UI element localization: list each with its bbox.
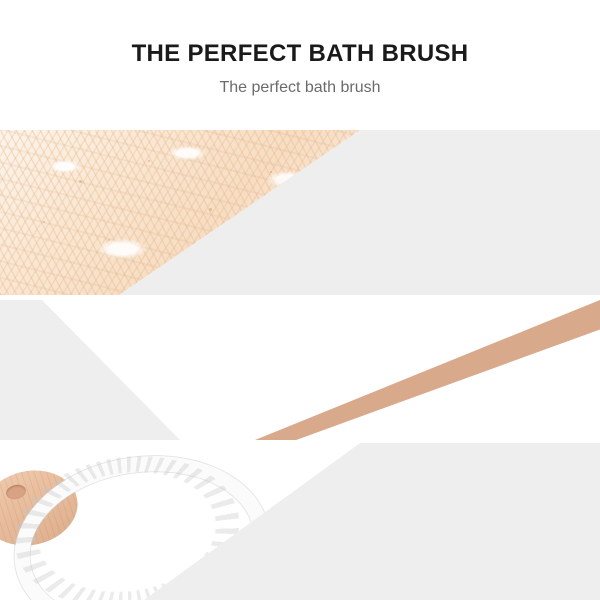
header: THE PERFECT BATH BRUSH The perfect bath … — [0, 0, 600, 130]
feature-section-3: 3 BRACELET DESIGN — [0, 443, 600, 600]
rope-bracelet-photo — [0, 443, 360, 600]
page-subtitle: The perfect bath brush — [0, 77, 600, 99]
loofah-mesh-photo — [0, 130, 360, 295]
feature-section-1: 1 RETICULATED LOOFAH — [0, 130, 600, 295]
product-infographic: THE PERFECT BATH BRUSH The perfect bath … — [0, 0, 600, 600]
feature-section-2: EXTENDED HANDLE 2 — [0, 300, 600, 440]
page-title: THE PERFECT BATH BRUSH — [0, 40, 600, 68]
